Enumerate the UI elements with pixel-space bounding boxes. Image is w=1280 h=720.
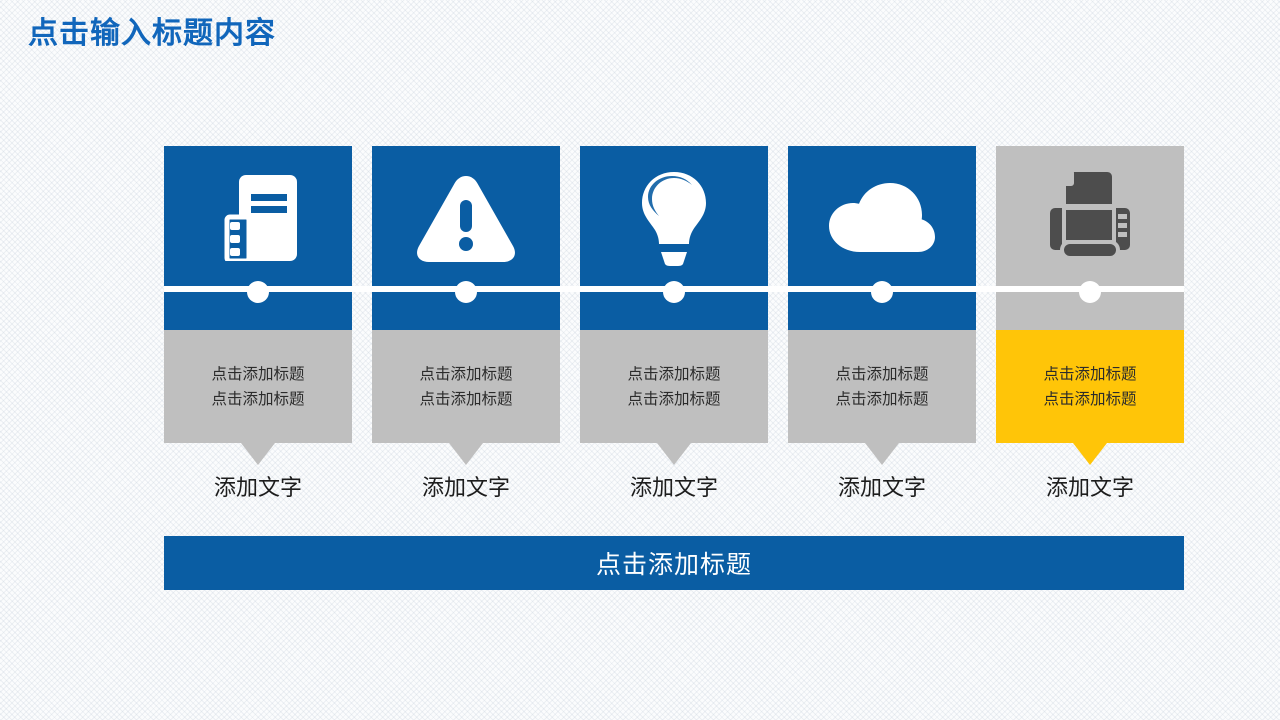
caption-pointer [449,443,483,465]
caption-line-1: 点击添加标题 [211,362,304,386]
step-caption-box-1[interactable]: 点击添加标题 点击添加标题 [164,330,352,443]
step-foot-label-3: 添加文字 [580,476,768,502]
step-icon-tile-5[interactable] [996,146,1184,330]
timeline-node-dot-2 [455,281,477,303]
step-icon-tile-4[interactable] [788,146,976,330]
step-caption-box-3[interactable]: 点击添加标题 点击添加标题 [580,330,768,443]
timeline-node-dot-3 [663,281,685,303]
process-diagram: 点击添加标题 点击添加标题 添加文字 点击添加标题 点击添加标题 添加文字 [164,146,1184,586]
bottom-bar-label: 点击添加标题 [596,545,752,581]
page-title: 点击输入标题内容 [28,16,276,52]
caption-line-1: 点击添加标题 [1043,362,1136,386]
timeline-node-dot-1 [247,281,269,303]
step-icon-tile-3[interactable] [580,146,768,330]
step-caption-box-2[interactable]: 点击添加标题 点击添加标题 [372,330,560,443]
step-column-5[interactable]: 点击添加标题 点击添加标题 添加文字 [996,146,1184,443]
step-foot-label-2: 添加文字 [372,476,560,502]
cloud-icon [788,158,976,278]
step-column-4[interactable]: 点击添加标题 点击添加标题 添加文字 [788,146,976,443]
step-foot-label-5: 添加文字 [996,476,1184,502]
caption-pointer [1073,443,1107,465]
caption-pointer [865,443,899,465]
bottom-title-bar[interactable]: 点击添加标题 [164,536,1184,590]
timeline-node-dot-5 [1079,281,1101,303]
step-column-1[interactable]: 点击添加标题 点击添加标题 添加文字 [164,146,352,443]
lightbulb-icon [580,158,768,278]
caption-pointer [657,443,691,465]
caption-line-2: 点击添加标题 [835,387,928,411]
step-foot-label-4: 添加文字 [788,476,976,502]
notebook-icon [164,158,352,278]
caption-line-2: 点击添加标题 [419,387,512,411]
warning-triangle-icon [372,158,560,278]
caption-line-1: 点击添加标题 [627,362,720,386]
step-foot-label-1: 添加文字 [164,476,352,502]
step-column-2[interactable]: 点击添加标题 点击添加标题 添加文字 [372,146,560,443]
caption-line-2: 点击添加标题 [211,387,304,411]
caption-line-2: 点击添加标题 [1043,387,1136,411]
caption-pointer [241,443,275,465]
printer-icon [996,158,1184,278]
step-column-3[interactable]: 点击添加标题 点击添加标题 添加文字 [580,146,768,443]
timeline-node-dot-4 [871,281,893,303]
caption-line-1: 点击添加标题 [419,362,512,386]
step-caption-box-4[interactable]: 点击添加标题 点击添加标题 [788,330,976,443]
caption-line-1: 点击添加标题 [835,362,928,386]
step-icon-tile-2[interactable] [372,146,560,330]
step-caption-box-5[interactable]: 点击添加标题 点击添加标题 [996,330,1184,443]
step-icon-tile-1[interactable] [164,146,352,330]
caption-line-2: 点击添加标题 [627,387,720,411]
